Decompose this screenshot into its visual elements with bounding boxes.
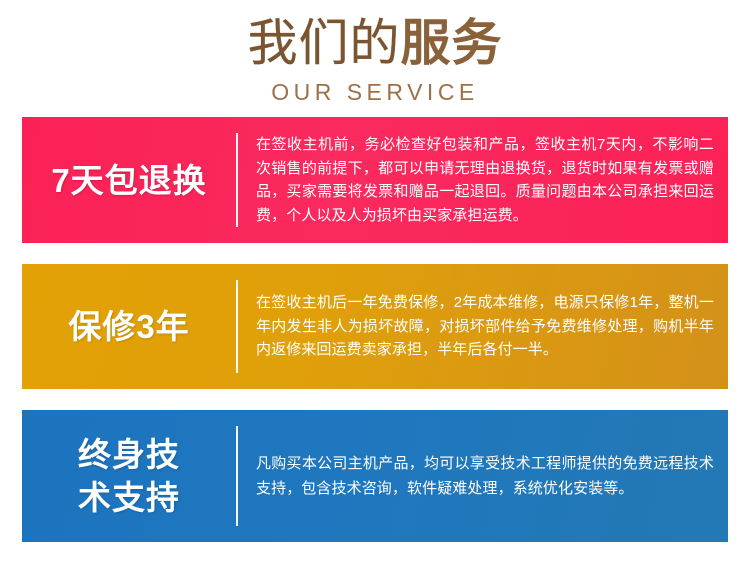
page-title-bold: 服务 — [401, 15, 503, 71]
service-body-return-policy: 在签收主机前，务必检查好包装和产品，签收主机7天内，不影响二次销售的前提下，都可… — [238, 117, 728, 243]
service-body-lifetime-support: 凡购买本公司主机产品，均可以享受技术工程师提供的免费远程技术支持，包含技术咨询，… — [238, 410, 728, 542]
service-label-return-policy: 7天包退换 — [22, 117, 236, 243]
service-label-line: 7天包退换 — [51, 159, 206, 202]
service-label-line: 术支持 — [78, 476, 180, 519]
service-body-text: 在签收主机后一年免费保修，2年成本维修，电源只保修1年，整机一年内发生非人为损坏… — [256, 291, 714, 362]
service-panel-return-policy: 7天包退换 在签收主机前，务必检查好包装和产品，签收主机7天内，不影响二次销售的… — [22, 117, 728, 243]
service-label-warranty: 保修3年 — [22, 264, 236, 389]
page-title-light: 我们的 — [248, 15, 401, 71]
service-label-lifetime-support: 终身技 术支持 — [22, 410, 236, 542]
service-label-line: 终身技 — [78, 433, 180, 476]
panel-divider — [236, 133, 238, 227]
page-header: 我们的服务 OUR SERVICE — [0, 0, 750, 106]
service-body-text: 凡购买本公司主机产品，均可以享受技术工程师提供的免费远程技术支持，包含技术咨询，… — [256, 451, 714, 501]
panel-divider — [236, 426, 238, 526]
service-panel-list: 7天包退换 在签收主机前，务必检查好包装和产品，签收主机7天内，不影响二次销售的… — [0, 117, 750, 542]
panel-divider — [236, 280, 238, 373]
service-page: 我们的服务 OUR SERVICE 7天包退换 在签收主机前，务必检查好包装和产… — [0, 0, 750, 584]
service-body-warranty: 在签收主机后一年免费保修，2年成本维修，电源只保修1年，整机一年内发生非人为损坏… — [238, 264, 728, 389]
page-title: 我们的服务 — [0, 14, 750, 72]
page-subtitle: OUR SERVICE — [0, 78, 750, 106]
service-panel-lifetime-support: 终身技 术支持 凡购买本公司主机产品，均可以享受技术工程师提供的免费远程技术支持… — [22, 410, 728, 542]
service-panel-warranty: 保修3年 在签收主机后一年免费保修，2年成本维修，电源只保修1年，整机一年内发生… — [22, 264, 728, 389]
service-body-text: 在签收主机前，务必检查好包装和产品，签收主机7天内，不影响二次销售的前提下，都可… — [256, 133, 714, 227]
service-label-line: 保修3年 — [68, 305, 189, 348]
